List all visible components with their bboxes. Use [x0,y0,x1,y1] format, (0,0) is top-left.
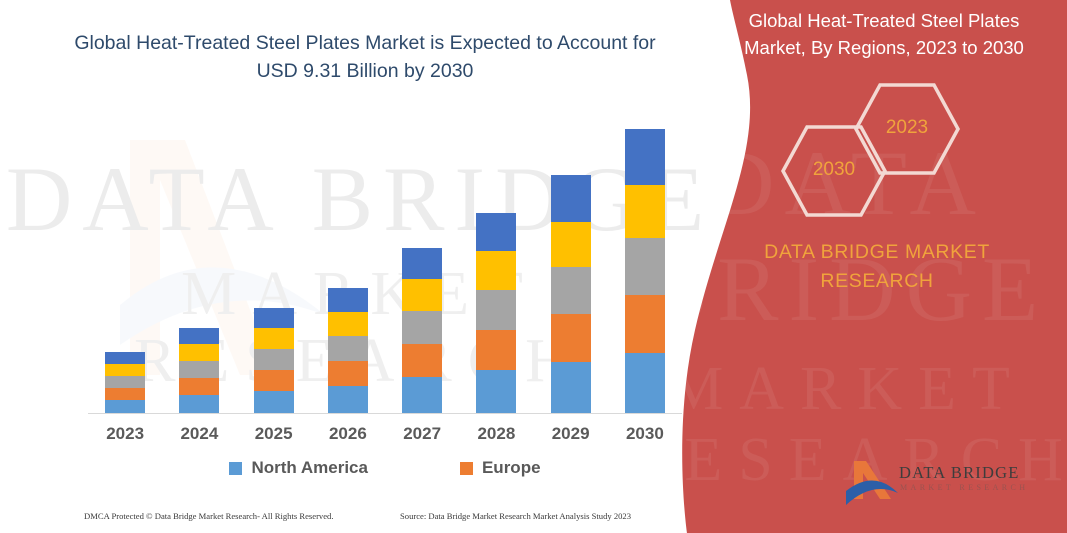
bar-segment [179,378,219,395]
panel-brand-line2: RESEARCH [820,270,933,292]
bar-segment [402,311,442,344]
bar-segment [254,328,294,349]
bar-segment [476,290,516,330]
bar-column [162,120,236,413]
chart-legend: North AmericaEurope [88,455,682,481]
stacked-bar [254,308,294,413]
legend-label: North America [251,458,368,478]
stacked-bar [476,213,516,413]
bar-column [385,120,459,413]
bar-segment [105,388,145,400]
dbmr-logo-text: DATA BRIDGE [899,463,1020,483]
stacked-bar [402,248,442,413]
dbmr-logo-icon [842,455,900,507]
bar-segment [254,370,294,391]
panel-brand: DATA BRIDGE MARKET RESEARCH [707,238,1047,297]
legend-label: Europe [482,458,541,478]
panel-title: Global Heat-Treated Steel Plates Market,… [719,8,1049,62]
bar-segment [476,251,516,290]
bar-segment [402,248,442,279]
bar-segment [476,213,516,251]
chart-x-axis-labels: 20232024202520262027202820292030 [88,424,682,450]
dbmr-logo-subtext: MARKET RESEARCH [900,483,1028,492]
legend-swatch-icon [460,462,473,475]
bar-segment [476,330,516,370]
page-title: Global Heat-Treated Steel Plates Market … [70,30,660,85]
x-axis-label: 2025 [237,424,311,450]
legend-item[interactable]: Europe [460,458,541,478]
hexagon-group: 2030 2023 [667,105,1067,215]
bar-segment [179,328,219,344]
bar-segment [254,391,294,413]
bar-segment [551,222,591,267]
bar-segment [105,352,145,364]
legend-swatch-icon [229,462,242,475]
x-axis-label: 2026 [311,424,385,450]
bar-segment [179,395,219,413]
bar-segment [625,185,665,238]
bar-segment [328,361,368,386]
x-axis-label: 2024 [162,424,236,450]
bar-segment [402,377,442,413]
bar-segment [254,349,294,370]
bar-segment [105,364,145,376]
stacked-bar [105,352,145,413]
bar-segment [625,238,665,295]
hexagon-2023-label: 2023 [852,117,962,139]
bar-segment [625,295,665,353]
legend-item[interactable]: North America [229,458,368,478]
x-axis-label: 2027 [385,424,459,450]
bar-segment [551,175,591,222]
x-axis-label: 2028 [459,424,533,450]
bar-column [534,120,608,413]
bar-segment [551,314,591,362]
footer-copyright: DMCA Protected © Data Bridge Market Rese… [84,511,334,521]
bar-segment [328,312,368,336]
chart-baseline-axis [88,413,682,414]
bar-column [237,120,311,413]
bar-segment [625,129,665,185]
dbmr-logo: DATA BRIDGE MARKET RESEARCH [842,455,1047,511]
x-axis-label: 2029 [534,424,608,450]
stacked-bar-chart [88,120,682,413]
bar-segment [105,400,145,413]
stacked-bar [625,129,665,413]
bar-segment [105,376,145,388]
footer: DMCA Protected © Data Bridge Market Rese… [0,507,706,529]
bar-column [459,120,533,413]
bar-segment [551,267,591,314]
bar-segment [179,344,219,361]
bar-segment [254,308,294,328]
panel-brand-line1: DATA BRIDGE MARKET [764,241,990,263]
stacked-bar [179,328,219,413]
infographic-root: DATA BRIDGE MARKET RESEARCH Global Heat-… [0,0,1067,533]
bar-segment [402,279,442,311]
bar-segment [625,353,665,413]
x-axis-label: 2023 [88,424,162,450]
stacked-bar [328,288,368,413]
stacked-bar [551,175,591,413]
bar-segment [328,386,368,413]
bar-segment [328,288,368,312]
bar-column [88,120,162,413]
bar-segment [328,336,368,361]
bar-column [311,120,385,413]
bar-segment [476,370,516,413]
bar-segment [179,361,219,378]
bar-segment [402,344,442,377]
bar-segment [551,362,591,413]
footer-source: Source: Data Bridge Market Research Mark… [400,511,631,521]
right-panel: DATA BRIDGE MARKET RESEARCH Global Heat-… [667,0,1067,533]
